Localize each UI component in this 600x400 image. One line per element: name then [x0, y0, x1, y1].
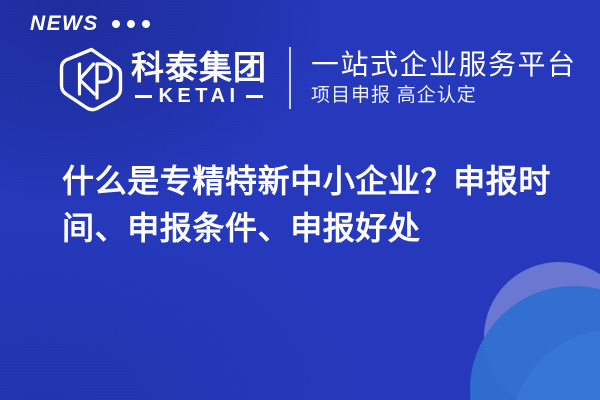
news-banner: NEWS 科泰集团	[0, 0, 600, 400]
headline-line-1: 什么是专精特新中小企业？申报时	[62, 158, 570, 205]
eyebrow-dot-icon	[112, 20, 120, 28]
headline: 什么是专精特新中小企业？申报时 间、申报条件、申报好处	[62, 158, 570, 252]
brand-name-en-row: KETAI	[131, 86, 267, 106]
headline-line-2: 间、申报条件、申报好处	[62, 205, 570, 252]
brand-rule-left-icon	[135, 95, 152, 98]
brand-name-cn: 科泰集团	[131, 50, 267, 86]
brand-lockup: 科泰集团 KETAI 一站式企业服务平台 项目申报 高企认定	[55, 42, 577, 114]
eyebrow-dot-icon	[142, 20, 150, 28]
eyebrow-dot-icon	[127, 20, 135, 28]
ketai-diamond-kd-monogram-icon	[55, 42, 127, 114]
brand-name-en: KETAI	[158, 86, 239, 106]
news-eyebrow: NEWS	[30, 13, 150, 34]
tagline-sub: 项目申报 高企认定	[311, 85, 577, 107]
brand-tagline: 一站式企业服务平台 项目申报 高企认定	[311, 49, 577, 107]
brand-divider	[289, 47, 291, 109]
tagline-main: 一站式企业服务平台	[311, 49, 577, 81]
eyebrow-dots-icon	[112, 20, 150, 28]
news-eyebrow-label: NEWS	[30, 13, 99, 34]
brand-names: 科泰集团 KETAI	[131, 50, 267, 107]
brand-rule-right-icon	[246, 95, 263, 98]
